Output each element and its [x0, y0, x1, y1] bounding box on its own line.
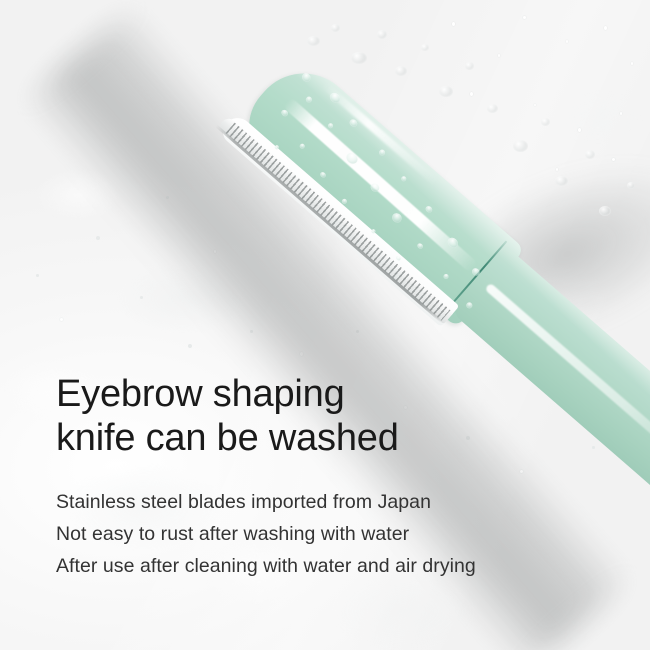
feature-list: Stainless steel blades imported from Jap…: [56, 486, 616, 582]
feature-item: Not easy to rust after washing with wate…: [56, 518, 616, 550]
headline: Eyebrow shaping knife can be washed: [56, 372, 616, 460]
feature-item: Stainless steel blades imported from Jap…: [56, 486, 616, 518]
product-image: Eyebrow shaping knife can be washed Stai…: [0, 0, 650, 650]
feature-item: After use after cleaning with water and …: [56, 550, 616, 582]
marketing-copy: Eyebrow shaping knife can be washed Stai…: [56, 372, 616, 582]
